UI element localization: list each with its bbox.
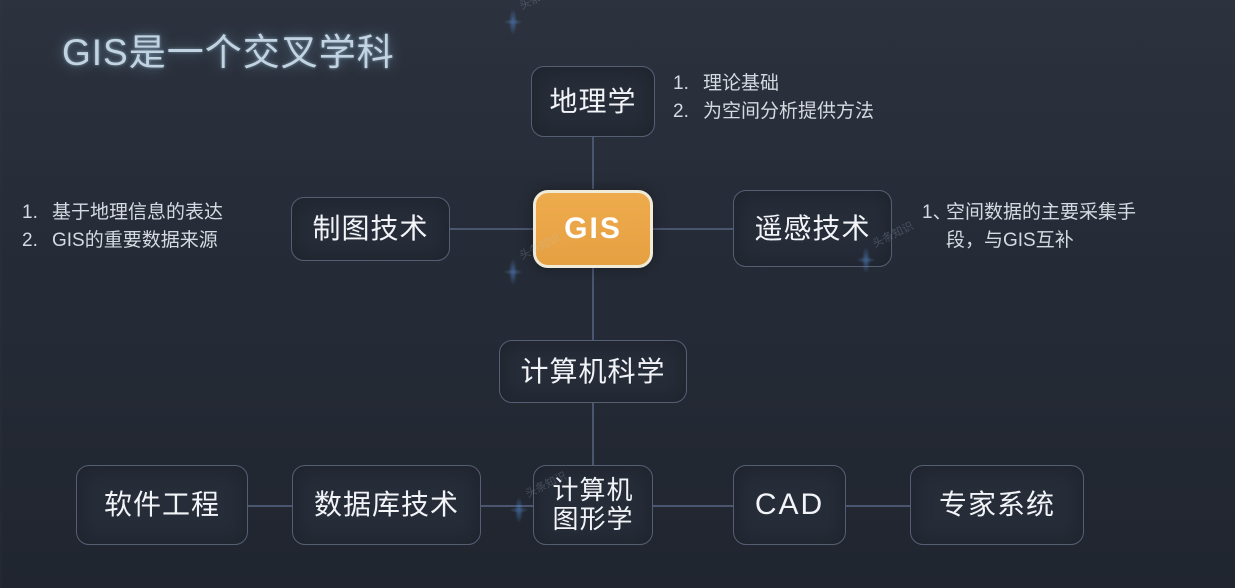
annotation-cartography-item: 1. 基于地理信息的表达	[22, 199, 223, 227]
connector-software-database	[248, 505, 292, 507]
connector-gis-remote-sensing	[653, 228, 733, 230]
annotation-remote-sensing-item-text: 空间数据的主要采集手段，与GIS互补	[946, 199, 1172, 254]
annotation-cartography-item: 2. GIS的重要数据来源	[22, 227, 223, 255]
annotation-cartography-item-index: 1.	[22, 199, 52, 227]
node-database-technology[interactable]: 数据库技术	[292, 465, 481, 545]
watermark-text: 头条知识	[516, 0, 563, 13]
node-computer-science[interactable]: 计算机科学	[499, 340, 687, 403]
node-computer-graphics[interactable]: 计算机 图形学	[533, 465, 653, 545]
node-database-technology-label: 数据库技术	[314, 489, 459, 520]
node-computer-graphics-label-line1: 计算机	[552, 476, 633, 505]
node-cartography[interactable]: 制图技术	[291, 197, 450, 261]
connector-graphics-cad	[653, 505, 733, 507]
annotation-geography-item-index: 1.	[673, 70, 703, 98]
annotation-cartography: 1. 基于地理信息的表达 2. GIS的重要数据来源	[22, 199, 223, 254]
annotation-geography-item: 2. 为空间分析提供方法	[673, 98, 874, 126]
sparkle-icon	[500, 2, 526, 42]
connector-gis-computer-science	[592, 268, 594, 340]
annotation-remote-sensing: 1、 空间数据的主要采集手段，与GIS互补	[922, 199, 1172, 254]
slide-canvas: GIS是一个交叉学科 地理学 制图技术 GIS 遥感技术 计算机科学 软件工程 …	[0, 0, 1235, 588]
annotation-geography-item: 1. 理论基础	[673, 70, 874, 98]
annotation-geography-item-index: 2.	[673, 98, 703, 126]
node-computer-science-label: 计算机科学	[520, 356, 665, 387]
node-software-engineering-label: 软件工程	[104, 489, 220, 520]
node-expert-system-label: 专家系统	[939, 489, 1055, 520]
node-geography[interactable]: 地理学	[531, 66, 655, 137]
annotation-geography-item-text: 理论基础	[703, 70, 779, 98]
page-title: GIS是一个交叉学科	[62, 22, 395, 76]
node-cad[interactable]: CAD	[733, 465, 846, 545]
annotation-cartography-item-text: GIS的重要数据来源	[52, 227, 218, 255]
connector-cad-expert-system	[846, 505, 910, 507]
node-gis-center[interactable]: GIS	[533, 190, 653, 268]
node-remote-sensing[interactable]: 遥感技术	[733, 190, 892, 267]
node-computer-graphics-label-line2: 图形学	[552, 505, 633, 534]
connector-database-graphics	[481, 505, 533, 507]
annotation-cartography-item-text: 基于地理信息的表达	[52, 199, 223, 227]
annotation-remote-sensing-item-index: 1、	[922, 199, 946, 254]
annotation-remote-sensing-item: 1、 空间数据的主要采集手段，与GIS互补	[922, 199, 1172, 254]
connector-cartography-gis	[450, 228, 533, 230]
sparkle-icon	[506, 490, 532, 530]
node-cad-label: CAD	[755, 488, 824, 522]
node-cartography-label: 制图技术	[312, 213, 428, 244]
node-gis-label: GIS	[564, 212, 622, 246]
node-geography-label: 地理学	[549, 86, 636, 117]
node-remote-sensing-label: 遥感技术	[754, 213, 870, 244]
node-expert-system[interactable]: 专家系统	[910, 465, 1084, 545]
annotation-geography-item-text: 为空间分析提供方法	[703, 98, 874, 126]
sparkle-icon	[500, 252, 526, 292]
connector-computer-science-graphics	[592, 403, 594, 465]
node-software-engineering[interactable]: 软件工程	[76, 465, 248, 545]
annotation-geography: 1. 理论基础 2. 为空间分析提供方法	[673, 70, 874, 125]
annotation-cartography-item-index: 2.	[22, 227, 52, 255]
connector-geography-gis	[592, 137, 594, 189]
